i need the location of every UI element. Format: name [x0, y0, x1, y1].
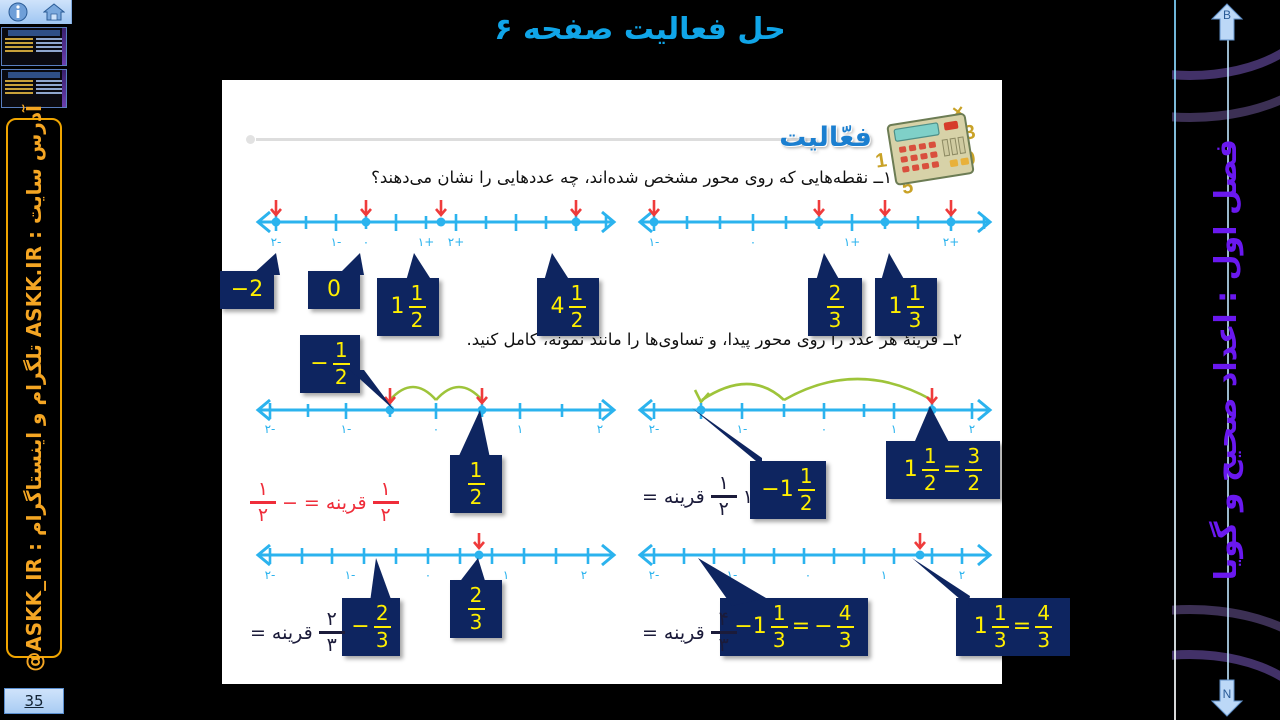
callout-whole: −1 — [761, 479, 793, 501]
slide-thumbnail-1[interactable] — [1, 27, 67, 66]
callout-answer-9: −1 1 2 — [750, 461, 826, 519]
equation-whole: ۱ — [743, 486, 753, 508]
chapter-title-text: فصل اول : اعداد صحیح و گویا — [1209, 139, 1244, 580]
svg-text:۰: ۰ — [821, 422, 827, 436]
svg-text:+۱: +۱ — [418, 235, 435, 249]
callout-answer-14: 1 1 3 = 4 3 — [956, 598, 1070, 656]
callout-tail — [400, 253, 434, 281]
site-address-text: آدرس سایت : ASKK.IR تلگرام و اینستاگرام … — [6, 105, 62, 672]
svg-text:-۱: -۱ — [341, 422, 352, 436]
nav-button-row — [0, 0, 72, 24]
equation-equals: = — [250, 622, 266, 644]
callout-fraction: 1 2 — [569, 283, 586, 330]
callout-equals: = — [943, 459, 961, 481]
callout-answer-3: 1 1 2 — [377, 278, 439, 336]
thumbnail-column — [36, 80, 64, 96]
callout-tail — [692, 408, 772, 466]
callout-answer-2: 0 — [308, 271, 360, 309]
svg-text:۱: ۱ — [881, 568, 887, 582]
callout-answer-4: 4 1 2 — [537, 278, 599, 336]
thumbnail-edge — [62, 28, 66, 65]
thumbnail-column — [5, 38, 33, 54]
svg-text:-۲: -۲ — [649, 568, 660, 582]
equation-equals: = — [642, 486, 658, 508]
svg-text:-۲: -۲ — [265, 568, 276, 582]
thumbnail-column — [5, 80, 33, 96]
equation-row3-right: ۴۳ قرینه = — [642, 610, 737, 655]
equation-minus: − — [282, 492, 298, 514]
equation-equals: = — [642, 622, 658, 644]
callout-tail — [350, 370, 398, 410]
callout-tail — [362, 558, 396, 602]
callout-whole: −1 — [734, 616, 766, 638]
equation-row2-left: ۱۲ قرینه = − ۱۲ — [250, 480, 399, 525]
number-line-row3-left: -۲-۱ ۰۱۲ — [250, 525, 622, 587]
callout-tail — [452, 410, 492, 458]
svg-text:+۱: +۱ — [844, 235, 861, 249]
callout-fraction: 2 3 — [374, 603, 391, 650]
callout-fraction: 1 3 — [992, 603, 1009, 650]
equation-word: قرینه — [664, 486, 705, 508]
slide-number: 35 — [4, 688, 64, 714]
svg-text:-۱: -۱ — [649, 235, 660, 249]
callout-value: 0 — [327, 279, 341, 301]
callout-whole: 1 — [391, 296, 405, 318]
equation-fraction: ۲۳ — [319, 610, 345, 655]
callout-whole: 4 — [551, 296, 565, 318]
thumbnail-columns — [2, 38, 66, 54]
right-rail: B فصل اول : اعداد صحیح و گویا N — [1172, 0, 1280, 720]
svg-text:-۱: -۱ — [345, 568, 356, 582]
equation-equals: = — [304, 492, 320, 514]
callout-answer-6: 1 1 3 — [875, 278, 937, 336]
callout-tail — [338, 253, 368, 275]
callout-whole: 1 — [889, 296, 903, 318]
callout-fraction: 4 3 — [837, 603, 854, 650]
equation-fraction: ۱۲ — [373, 480, 399, 525]
callout-answer-10: 1 1 2 = 3 2 — [886, 441, 1000, 499]
equation-fraction: ۱۲ — [250, 480, 276, 525]
info-icon — [8, 2, 28, 22]
equation-fraction: ۱۲ — [711, 474, 737, 519]
chapter-title: فصل اول : اعداد صحیح و گویا — [1178, 80, 1274, 640]
callout-tail — [252, 253, 282, 275]
equation-word: قرینه — [664, 622, 705, 644]
callout-fraction: 1 3 — [907, 283, 924, 330]
home-button[interactable] — [36, 0, 72, 24]
svg-text:۲: ۲ — [597, 422, 603, 436]
callout-sign: − — [814, 616, 832, 638]
svg-text:-۲: -۲ — [265, 422, 276, 436]
svg-text:۰: ۰ — [805, 568, 811, 582]
callout-tail — [540, 253, 574, 281]
thumbnail-columns — [2, 80, 66, 96]
nav-back-letter: B — [1223, 8, 1231, 22]
number-line-row1-right: -۱۰ +۱+۲ — [632, 200, 998, 258]
nav-next-letter: N — [1223, 687, 1232, 701]
equation-word: قرینه — [326, 492, 367, 514]
callout-fraction: 1 2 — [922, 446, 939, 493]
thumbnail-title-bar — [8, 30, 60, 36]
thumbnail-title-bar — [8, 72, 60, 78]
question-1-text: ۱ــ نقطه‌هایی که روی محور مشخص شده‌اند، … — [371, 168, 892, 187]
svg-text:+۲: +۲ — [448, 235, 465, 249]
callout-equals: = — [1013, 616, 1031, 638]
callout-answer-1: −2 — [220, 271, 274, 309]
svg-text:۰: ۰ — [363, 235, 369, 249]
equation-fraction: ۴۳ — [711, 610, 737, 655]
callout-answer-12: 2 3 — [450, 580, 502, 638]
svg-text:۰: ۰ — [433, 422, 439, 436]
svg-text:-۱: -۱ — [331, 235, 342, 249]
home-icon — [43, 3, 65, 21]
callout-tail — [912, 406, 958, 448]
svg-text:-۲: -۲ — [271, 235, 282, 249]
slide-thumbnail-2[interactable] — [1, 69, 67, 108]
callout-sign: − — [351, 616, 369, 638]
calculator-icon: × 3 9 5 1 — [874, 100, 1002, 204]
svg-text:۰: ۰ — [750, 235, 756, 249]
callout-answer-5: 2 3 — [808, 278, 862, 336]
slide-stage: آدرس سایت : ASKK.IR تلگرام و اینستاگرام … — [0, 0, 1280, 720]
svg-text:۲: ۲ — [581, 568, 587, 582]
activity-heading: فعّالیت — [779, 122, 872, 153]
callout-fraction: 1 2 — [409, 283, 426, 330]
left-rail: آدرس سایت : ASKK.IR تلگرام و اینستاگرام … — [0, 0, 72, 720]
thumbnail-edge — [62, 70, 66, 107]
callout-equals: = — [792, 616, 810, 638]
callout-fraction: 2 3 — [827, 283, 844, 330]
equation-row3-left: ۲۳ قرینه = — [250, 610, 345, 655]
callout-fraction: 1 2 — [333, 340, 350, 387]
callout-tail — [812, 253, 844, 281]
previous-slide-button[interactable]: B — [1210, 2, 1244, 42]
svg-text:۱: ۱ — [517, 422, 523, 436]
callout-fraction: 1 3 — [771, 603, 788, 650]
callout-fraction: 4 3 — [1035, 603, 1052, 650]
callout-fraction: 2 3 — [468, 585, 485, 632]
callout-whole: 1 — [974, 616, 988, 638]
callout-value: −2 — [231, 279, 263, 301]
svg-text:۲: ۲ — [969, 422, 975, 436]
svg-text:۱: ۱ — [503, 568, 509, 582]
callout-answer-13: −1 1 3 = − 4 3 — [720, 598, 868, 656]
svg-text:۰: ۰ — [425, 568, 431, 582]
rail-seam — [1174, 0, 1176, 720]
thumbnail-column — [36, 38, 64, 54]
callout-fraction: 1 2 — [798, 466, 815, 513]
svg-text:+۲: +۲ — [943, 235, 960, 249]
textbook-page: فعّالیت × 3 9 5 1 — [222, 80, 1002, 684]
callout-tail — [877, 253, 909, 281]
up-arrow-icon: B — [1210, 2, 1244, 42]
down-arrow-icon: N — [1210, 678, 1244, 718]
activity-rule — [256, 138, 816, 141]
page-title: حل فعالیت صفحه ۶ — [120, 12, 1160, 58]
equation-row2-right: ۱ ۱۲ قرینه = — [642, 474, 753, 519]
info-button[interactable] — [0, 0, 36, 24]
callout-answer-11: − 2 3 — [342, 598, 400, 656]
callout-answer-8: 1 2 — [450, 455, 502, 513]
callout-fraction: 1 2 — [468, 460, 485, 507]
callout-sign: − — [310, 353, 328, 375]
number-line-row1-left: -۲-۱ ۰+۱+۲ — [250, 200, 622, 258]
site-address-badge: آدرس سایت : ASKK.IR تلگرام و اینستاگرام … — [6, 118, 62, 658]
callout-tail — [698, 558, 778, 606]
callout-whole: 1 — [904, 459, 918, 481]
equation-word: قرینه — [272, 622, 313, 644]
svg-text:۱: ۱ — [891, 422, 897, 436]
callout-tail — [452, 558, 490, 584]
svg-text:-۲: -۲ — [649, 422, 660, 436]
callout-fraction: 3 2 — [965, 446, 982, 493]
next-slide-button[interactable]: N — [1210, 678, 1244, 718]
callout-tail — [912, 558, 982, 606]
